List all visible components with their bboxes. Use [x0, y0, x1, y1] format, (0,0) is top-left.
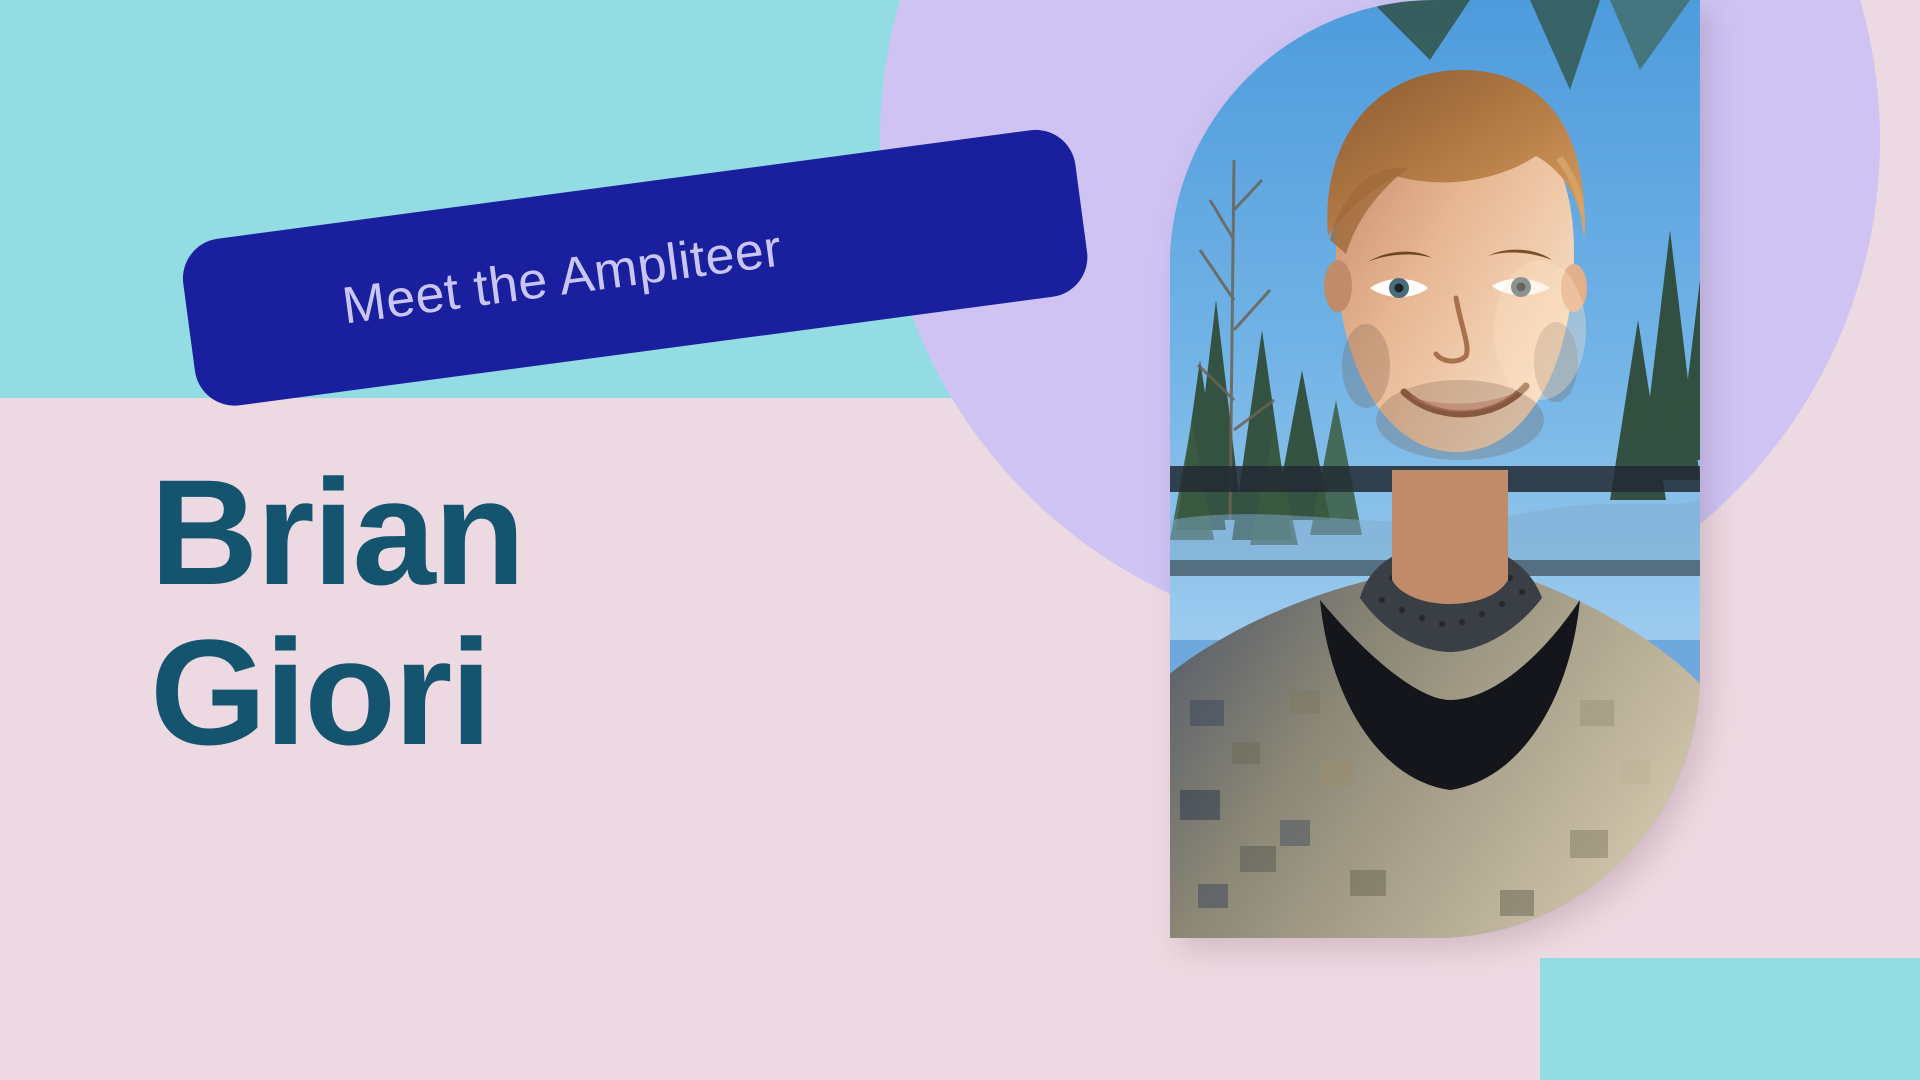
portrait-photo — [1170, 0, 1700, 938]
person-name: Brian Giori — [150, 452, 910, 772]
person-last-name: Giori — [150, 612, 910, 772]
meet-the-ampliteer-card: Meet the Ampliteer Brian Giori — [0, 0, 1920, 1080]
portrait-illustration — [1170, 0, 1700, 938]
background-teal-bottom-right — [1540, 958, 1920, 1080]
banner-label: Meet the Ampliteer — [339, 218, 786, 336]
person-first-name: Brian — [150, 452, 910, 612]
